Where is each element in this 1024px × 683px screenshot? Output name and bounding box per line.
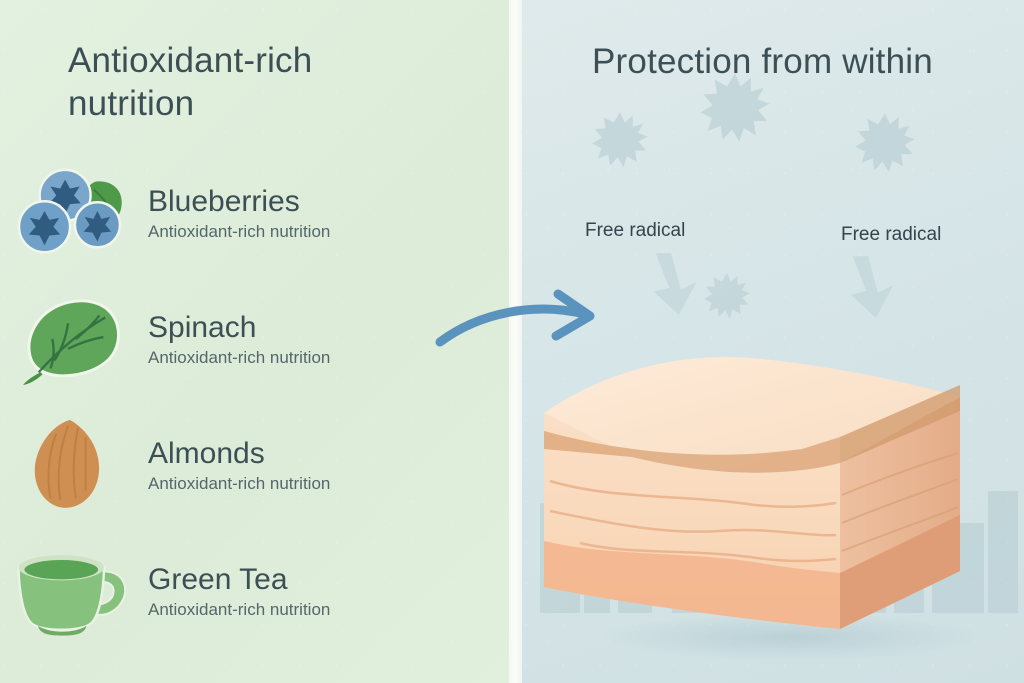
free-radical-burst-1 xyxy=(591,111,649,169)
food-name: Blueberries xyxy=(148,185,330,218)
list-item[interactable]: Green Tea Antioxidant-rich nutrition xyxy=(0,528,509,654)
left-panel-title: Antioxidant-rich nutrition xyxy=(68,40,468,125)
free-radical-label: Free radical xyxy=(841,224,941,246)
green-tea-cup-icon xyxy=(0,532,140,650)
free-radical-burst-3 xyxy=(854,112,916,174)
food-subtitle: Antioxidant-rich nutrition xyxy=(148,349,330,368)
free-radical-impact-arrow-2 xyxy=(843,256,901,318)
food-list: Blueberries Antioxidant-rich nutrition xyxy=(0,150,509,654)
list-item[interactable]: Almonds Antioxidant-rich nutrition xyxy=(0,402,509,528)
food-subtitle: Antioxidant-rich nutrition xyxy=(148,223,330,242)
list-item-text: Almonds Antioxidant-rich nutrition xyxy=(140,437,330,494)
free-radical-impact-arrow-1 xyxy=(646,253,704,315)
food-subtitle: Antioxidant-rich nutrition xyxy=(148,601,330,620)
list-item-text: Green Tea Antioxidant-rich nutrition xyxy=(140,563,330,620)
food-name: Green Tea xyxy=(148,563,330,596)
food-name: Almonds xyxy=(148,437,330,470)
free-radical-label: Free radical xyxy=(585,220,685,242)
right-panel-title: Protection from within xyxy=(592,41,1012,84)
free-radical-burst-4 xyxy=(703,272,751,320)
food-name: Spinach xyxy=(148,311,330,344)
blueberries-icon xyxy=(0,154,140,272)
infographic-canvas: Protection from within Free radical Free… xyxy=(0,0,1024,683)
list-item-text: Spinach Antioxidant-rich nutrition xyxy=(140,311,330,368)
list-item-text: Blueberries Antioxidant-rich nutrition xyxy=(140,185,330,242)
almond-icon xyxy=(0,406,140,524)
list-item[interactable]: Blueberries Antioxidant-rich nutrition xyxy=(0,150,509,276)
list-item[interactable]: Spinach Antioxidant-rich nutrition xyxy=(0,276,509,402)
spinach-leaf-icon xyxy=(0,280,140,398)
food-subtitle: Antioxidant-rich nutrition xyxy=(148,475,330,494)
skin-cross-section-block xyxy=(540,345,1020,665)
